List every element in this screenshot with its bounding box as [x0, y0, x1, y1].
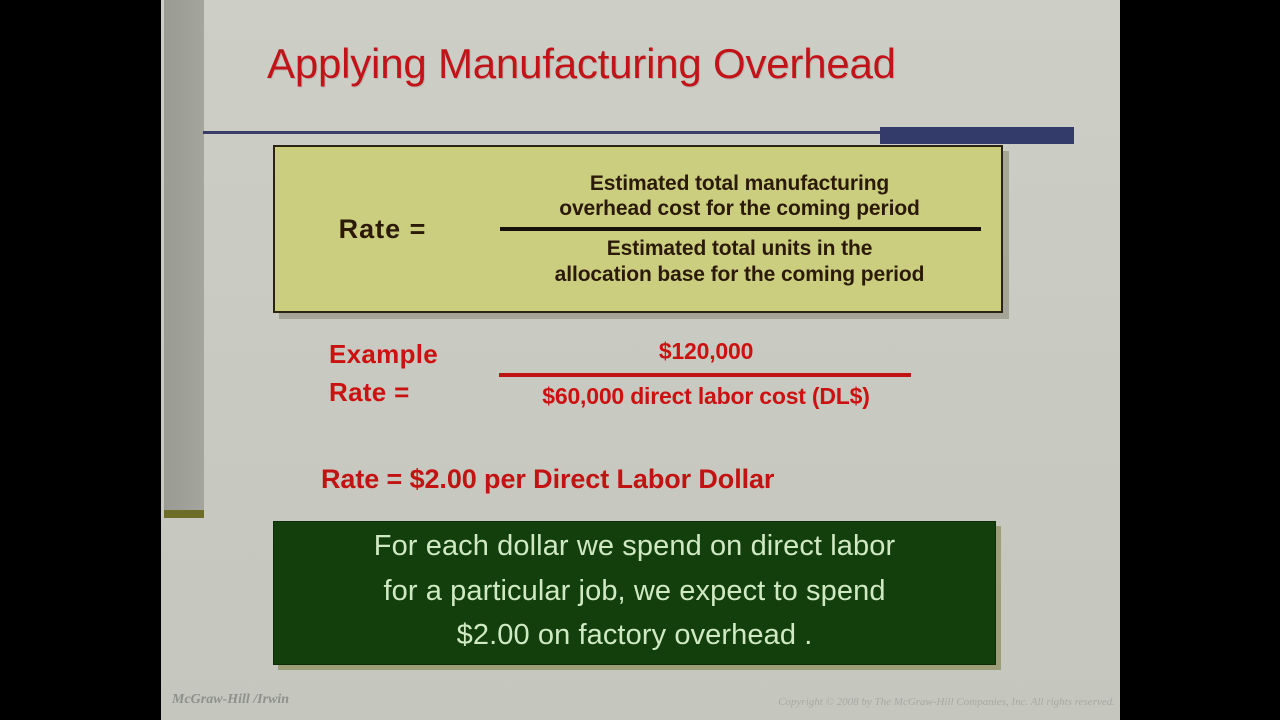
left-band-olive-cap — [164, 510, 204, 518]
formula-numerator-line-1: Estimated total manufacturing — [490, 171, 989, 197]
presentation-slide: Applying Manufacturing Overhead Rate = E… — [161, 0, 1120, 720]
example-denominator: $60,000 direct labor cost (DL$) — [491, 383, 921, 410]
header-navy-block — [880, 127, 1074, 144]
example-rate-label: Example Rate = — [329, 336, 509, 411]
formula-numerator-line-2: overhead cost for the coming period — [490, 196, 989, 222]
callout-line-1: For each dollar we spend on direct labor — [288, 524, 981, 569]
left-decorative-band — [164, 0, 204, 510]
footer-publisher-logo: McGraw-Hill /Irwin — [172, 692, 289, 708]
explanation-callout-box: For each dollar we spend on direct labor… — [273, 521, 996, 665]
example-numerator: $120,000 — [491, 338, 921, 365]
formula-denominator-line-2: allocation base for the coming period — [490, 262, 989, 288]
callout-line-2: for a particular job, we expect to spend — [288, 569, 981, 614]
callout-line-3: $2.00 on factory overhead . — [288, 613, 981, 658]
example-label-line-1: Example — [329, 336, 509, 374]
example-fraction: $120,000 $60,000 direct labor cost (DL$) — [491, 338, 921, 410]
formula-fraction-bar — [500, 227, 981, 231]
formula-rate-label: Rate = — [275, 214, 490, 245]
screenshot-stage: Applying Manufacturing Overhead Rate = E… — [0, 0, 1280, 720]
footer-copyright-notice: Copyright © 2008 by The McGraw-Hill Comp… — [778, 696, 1115, 708]
formula-denominator-line-1: Estimated total units in the — [490, 236, 989, 262]
overhead-rate-formula-box: Rate = Estimated total manufacturing ove… — [273, 145, 1003, 313]
slide-title: Applying Manufacturing Overhead — [267, 40, 1087, 88]
example-fraction-bar — [499, 373, 911, 377]
computed-rate-result: Rate = $2.00 per Direct Labor Dollar — [321, 464, 921, 495]
header-divider-rule — [203, 131, 920, 134]
example-label-line-2: Rate = — [329, 374, 509, 412]
formula-fraction: Estimated total manufacturing overhead c… — [490, 171, 1001, 287]
